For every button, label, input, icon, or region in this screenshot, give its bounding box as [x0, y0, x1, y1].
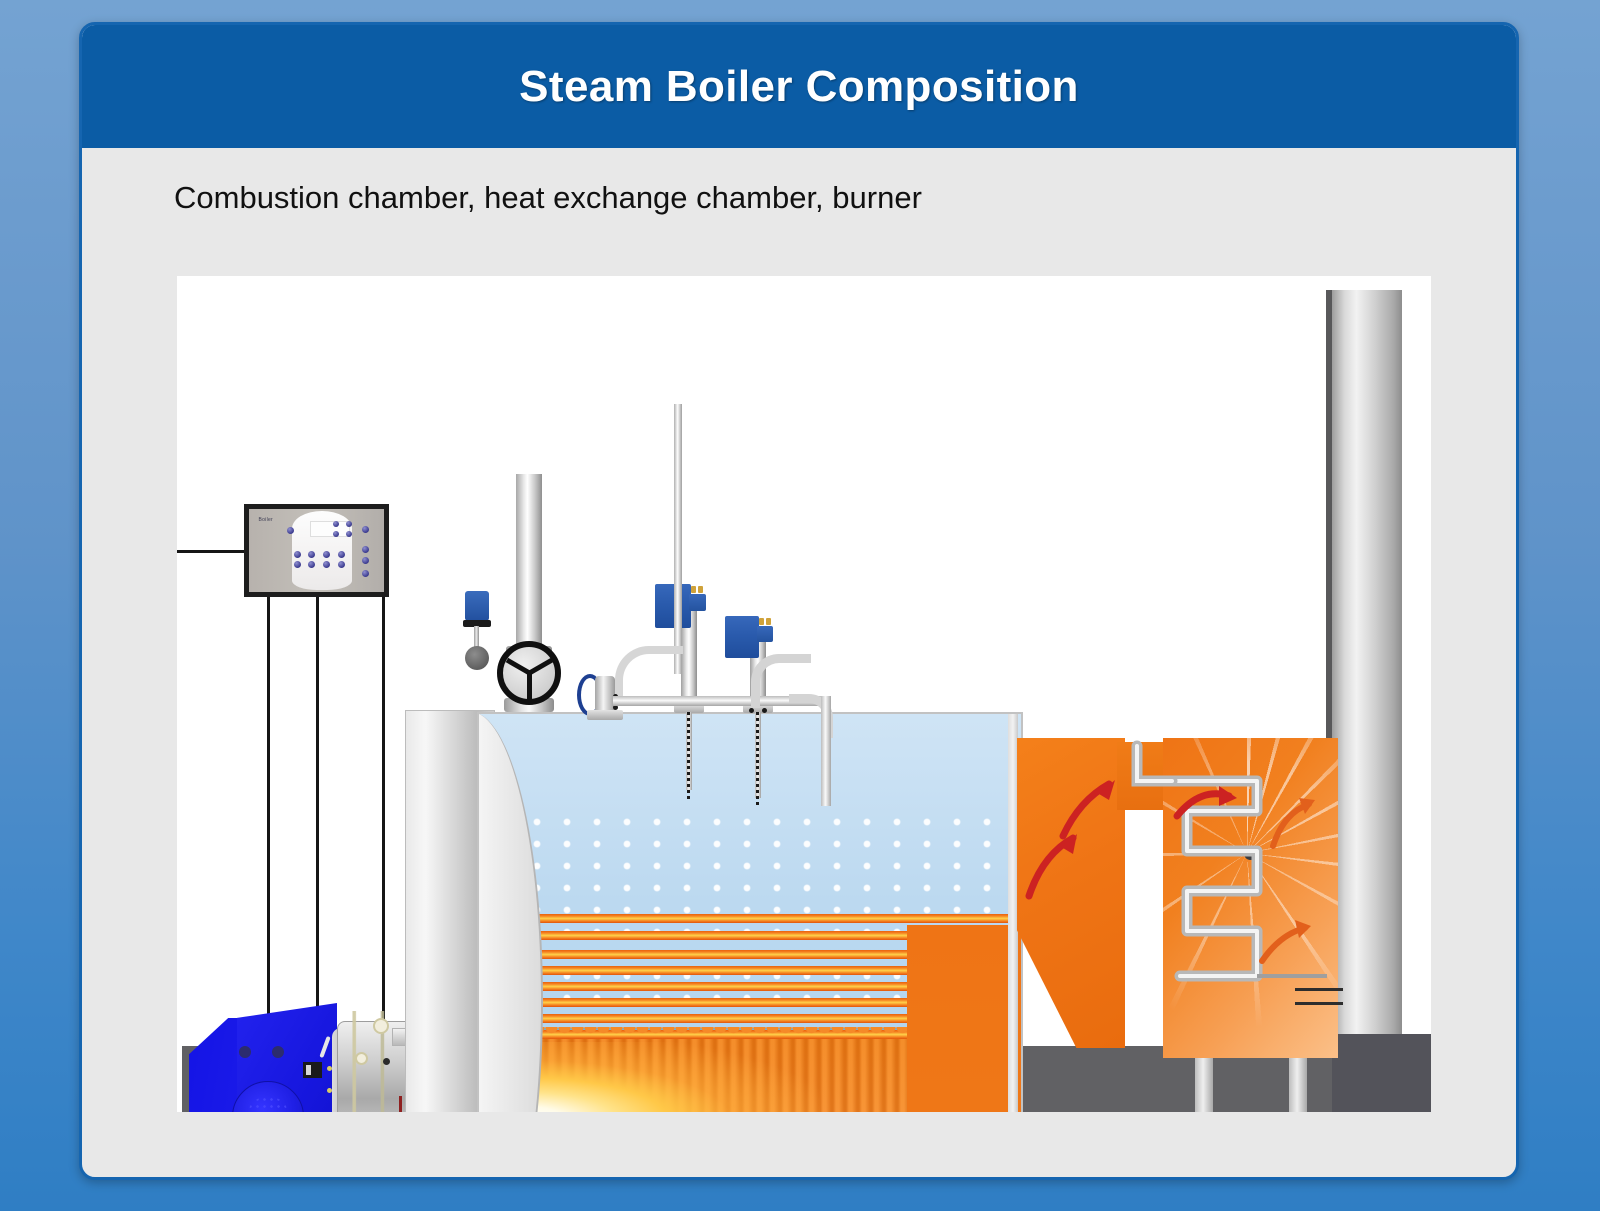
diagram-overlay [177, 276, 1431, 1112]
page-title: Steam Boiler Composition [519, 62, 1079, 112]
slide-title-bar: Steam Boiler Composition [82, 25, 1516, 148]
slide-frame: Steam Boiler Composition Combustion cham… [79, 22, 1519, 1180]
boiler-diagram-image: Boiler [177, 276, 1431, 1112]
flue-gas-arrows [1029, 780, 1237, 896]
economizer-coil-inlet [1137, 746, 1172, 781]
slide-subtitle: Combustion chamber, heat exchange chambe… [174, 180, 922, 216]
flue-gas-arrows-secondary [1262, 798, 1315, 961]
flue-gas-arrow-econ-outlet [1273, 804, 1309, 846]
